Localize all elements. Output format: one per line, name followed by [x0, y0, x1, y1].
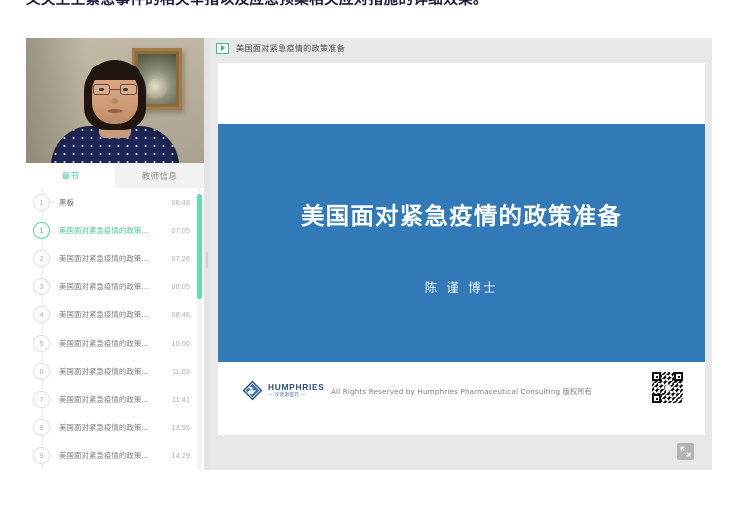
chapter-timestamp: 08:46	[172, 310, 191, 319]
chapter-timestamp: 14:29	[172, 451, 191, 460]
clipped-document-text: 义关上上紧急事件的相关举措以及应急预案相关应对措施的详细效果。	[26, 0, 726, 8]
chapter-title: 美国面对紧急疫情的政策…	[59, 225, 168, 236]
slide-header-bar: 美国面对紧急疫情的政策准备	[210, 38, 712, 58]
tab-chapters-label: 章节	[62, 170, 80, 182]
chapter-title: 美国面对紧急疫情的政策…	[59, 338, 168, 349]
qr-code-icon	[652, 372, 683, 403]
chapter-row[interactable]: 8美国面对紧急疫情的政策…13:55	[26, 414, 204, 442]
chapter-title: 美国面对紧急疫情的政策…	[59, 366, 168, 377]
video-player-widget: 章节 教师信息 1黑板06:481美国面对紧急疫情的政策…07:052美国面对紧…	[26, 38, 712, 470]
chapter-timestamp: 08:05	[172, 282, 191, 291]
chapter-title: 美国面对紧急疫情的政策…	[59, 422, 168, 433]
chapter-row[interactable]: 6美国面对紧急疫情的政策…11:03	[26, 357, 204, 385]
chapter-bullet-tick	[48, 202, 54, 203]
qr-finder-top-left	[652, 372, 661, 381]
sidebar-scrollbar-thumb[interactable]	[197, 194, 202, 299]
chapter-title: 美国面对紧急疫情的政策…	[59, 450, 168, 461]
qr-center-logo	[664, 384, 671, 391]
chapter-title: 美国面对紧急疫情的政策…	[59, 253, 168, 264]
chapter-row[interactable]: 7美国面对紧急疫情的政策…11:41	[26, 385, 204, 413]
chapter-title: 美国面对紧急疫情的政策…	[59, 281, 168, 292]
slide-blue-band: 美国面对紧急疫情的政策准备 陈 谨 博士	[218, 124, 705, 362]
slide-footer: HUMPHRIES — 汉谟斯医药 — All Rights Reserved …	[218, 362, 705, 435]
chapter-row[interactable]: 5美国面对紧急疫情的政策…10:00	[26, 329, 204, 357]
chapter-row[interactable]: 1美国面对紧急疫情的政策…07:05	[26, 216, 204, 244]
chapter-timestamp: 11:41	[172, 395, 190, 404]
player-sidebar: 章节 教师信息 1黑板06:481美国面对紧急疫情的政策…07:052美国面对紧…	[26, 38, 204, 470]
slide-top-whitespace	[218, 63, 705, 124]
chapter-index-bullet: 6	[33, 363, 50, 380]
chapter-row[interactable]: 1黑板06:48	[26, 188, 204, 216]
chapter-list: 1黑板06:481美国面对紧急疫情的政策…07:052美国面对紧急疫情的政策…0…	[26, 188, 204, 470]
slide-header-title: 美国面对紧急疫情的政策准备	[236, 42, 345, 54]
slide-panel-footer-space	[210, 435, 712, 470]
tab-instructor-info-label: 教师信息	[142, 170, 178, 182]
glasses-lens-left	[93, 84, 110, 95]
clipped-document-text-label: 义关上上紧急事件的相关举措以及应急预案相关应对措施的详细效果。	[26, 0, 726, 8]
column-divider-grip[interactable]	[206, 252, 208, 268]
chapter-title: 黑板	[59, 197, 168, 208]
chapter-list-viewport: 1黑板06:481美国面对紧急疫情的政策…07:052美国面对紧急疫情的政策…0…	[26, 188, 204, 470]
chapter-title: 美国面对紧急疫情的政策…	[59, 394, 168, 405]
chapter-timestamp: 06:48	[172, 198, 191, 207]
chapter-index-bullet: 8	[33, 419, 50, 436]
sidebar-tabs: 章节 教师信息	[26, 163, 204, 189]
person-mouth	[108, 109, 123, 113]
chapter-index-bullet: 4	[33, 306, 50, 323]
glasses-bridge	[110, 89, 120, 90]
copyright-text: All Rights Reserved by Humphries Pharmac…	[218, 387, 705, 397]
qr-finder-top-right	[674, 372, 683, 381]
chapter-index-bullet: 2	[33, 250, 50, 267]
page-root: 义关上上紧急事件的相关举措以及应急预案相关应对措施的详细效果。	[0, 0, 743, 511]
chapter-row[interactable]: 9美国面对紧急疫情的政策…14:29	[26, 442, 204, 470]
slide-canvas[interactable]: 美国面对紧急疫情的政策准备 陈 谨 博士	[218, 63, 705, 435]
chapter-index-bullet: 7	[33, 391, 50, 408]
eyeglasses-icon	[93, 84, 137, 96]
fullscreen-arrows-icon	[680, 446, 691, 457]
glasses-lens-right	[120, 84, 137, 95]
person-nose	[112, 98, 119, 104]
instructor-video[interactable]	[26, 38, 204, 163]
chapter-index-bullet: 9	[33, 447, 50, 464]
chapter-title: 美国面对紧急疫情的政策…	[59, 309, 168, 320]
slide-title: 美国面对紧急疫情的政策准备	[218, 197, 705, 231]
tab-chapters[interactable]: 章节	[26, 163, 115, 188]
chapter-timestamp: 07:26	[172, 254, 191, 263]
chapter-index-bullet: 3	[33, 278, 50, 295]
slide-panel: 美国面对紧急疫情的政策准备 美国面对紧急疫情的政策准备 陈 谨 博士	[210, 38, 712, 470]
chapter-timestamp: 13:55	[172, 423, 191, 432]
chapter-index-bullet: 5	[33, 335, 50, 352]
chapter-timestamp: 11:03	[172, 367, 190, 376]
chapter-row[interactable]: 3美国面对紧急疫情的政策…08:05	[26, 273, 204, 301]
chapter-index-bullet: 1	[33, 194, 50, 211]
qr-finder-bottom-left	[652, 394, 661, 403]
play-triangle	[221, 45, 225, 51]
tab-instructor-info[interactable]: 教师信息	[115, 163, 204, 188]
painting-flowers	[147, 78, 167, 102]
chapter-timestamp: 10:00	[172, 339, 191, 348]
fullscreen-expand-icon[interactable]	[677, 443, 694, 460]
chapter-timestamp: 07:05	[172, 226, 191, 235]
slide-subtitle: 陈 谨 博士	[218, 277, 705, 296]
play-icon[interactable]	[216, 43, 229, 54]
chapter-row[interactable]: 2美国面对紧急疫情的政策…07:26	[26, 244, 204, 272]
person-bangs	[90, 65, 140, 80]
chapter-row[interactable]: 4美国面对紧急疫情的政策…08:46	[26, 301, 204, 329]
chapter-index-bullet: 1	[33, 222, 50, 239]
